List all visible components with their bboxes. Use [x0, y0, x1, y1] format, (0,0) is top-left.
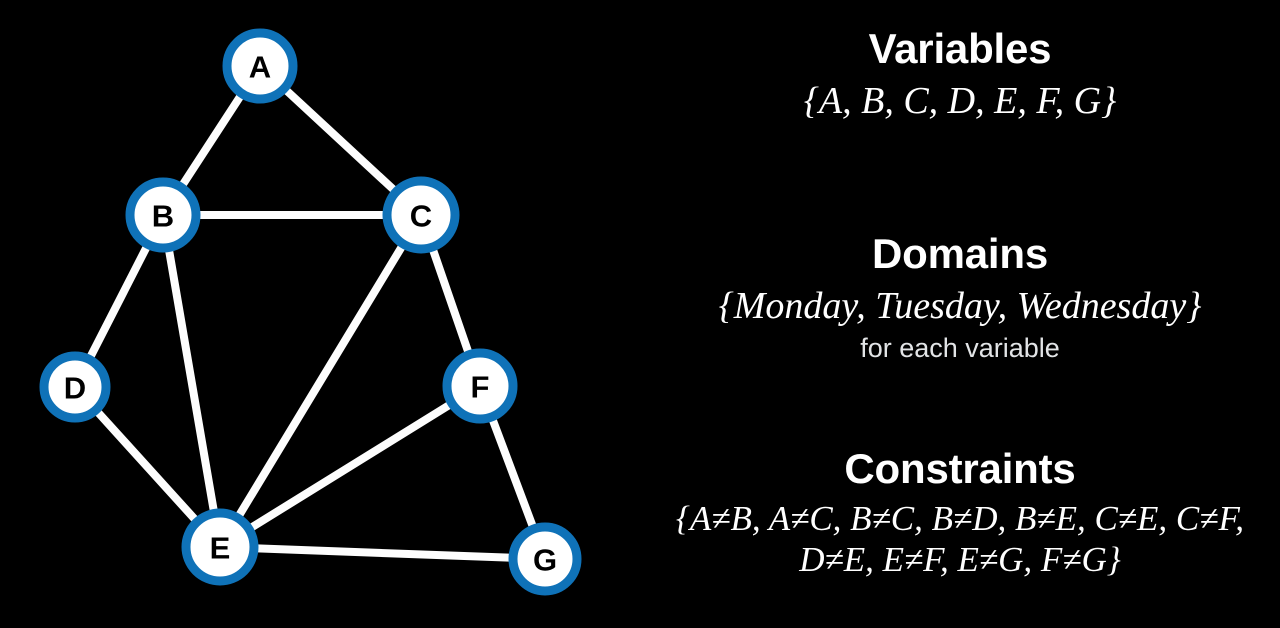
constraints-set: {A≠B, A≠C, B≠C, B≠D, B≠E, C≠E, C≠F, D≠E,…: [640, 498, 1280, 580]
constraints-title: Constraints: [640, 444, 1280, 494]
graph-node-e[interactable]: E: [186, 513, 254, 581]
graph-edge-layer: [75, 66, 545, 559]
variables-set: {A, B, C, D, E, F, G}: [640, 78, 1280, 124]
graph-node-label-f: F: [471, 370, 490, 405]
variables-title: Variables: [640, 24, 1280, 74]
domains-section: Domains {Monday, Tuesday, Wednesday} for…: [640, 229, 1280, 365]
graph-edge-e-g: [220, 547, 545, 559]
variables-section: Variables {A, B, C, D, E, F, G}: [640, 24, 1280, 124]
graph-node-label-e: E: [210, 531, 231, 566]
graph-edge-c-e: [220, 215, 421, 547]
domains-title: Domains: [640, 229, 1280, 279]
graph-node-label-a: A: [249, 50, 271, 85]
definitions-panel: Variables {A, B, C, D, E, F, G} Domains …: [640, 0, 1280, 628]
graph-node-label-c: C: [410, 199, 432, 234]
constraint-graph: ABCDEFG: [0, 0, 640, 628]
graph-node-label-b: B: [152, 199, 174, 234]
graph-node-label-d: D: [64, 371, 86, 406]
graph-node-d[interactable]: D: [44, 356, 106, 418]
graph-node-a[interactable]: A: [227, 33, 293, 99]
constraint-graph-panel: ABCDEFG: [0, 0, 640, 628]
graph-node-g[interactable]: G: [513, 527, 577, 591]
csp-slide: ABCDEFG Variables {A, B, C, D, E, F, G} …: [0, 0, 1280, 628]
domains-note: for each variable: [640, 331, 1280, 365]
graph-node-f[interactable]: F: [447, 353, 513, 419]
graph-node-c[interactable]: C: [387, 181, 455, 249]
graph-edge-e-f: [220, 386, 480, 547]
constraints-section: Constraints {A≠B, A≠C, B≠C, B≠D, B≠E, C≠…: [640, 444, 1280, 580]
graph-node-b[interactable]: B: [130, 182, 196, 248]
graph-node-label-g: G: [533, 543, 557, 578]
domains-set: {Monday, Tuesday, Wednesday}: [640, 283, 1280, 329]
